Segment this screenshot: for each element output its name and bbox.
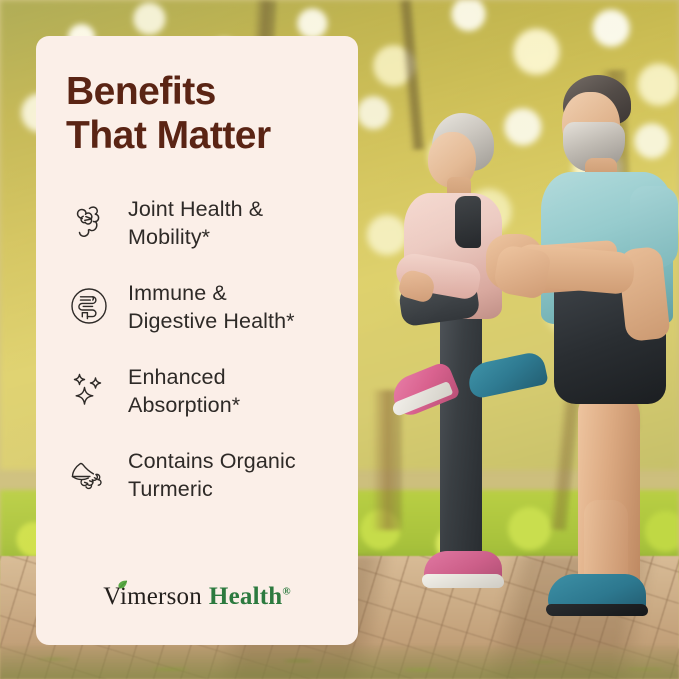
brand-logo: Vimerson Health® (36, 583, 358, 611)
registered-mark: ® (282, 586, 290, 598)
list-item-label: Contains Organic Turmeric (128, 447, 296, 504)
woman-standing-leg (440, 300, 482, 572)
benefits-card: Benefits That Matter (36, 36, 358, 645)
benefits-list: Joint Health & Mobility* Immune & Diges (66, 195, 332, 505)
joint-bone-icon (66, 195, 112, 247)
list-item-label: Enhanced Absorption* (128, 363, 240, 420)
woman-standing-shoe-sole (422, 574, 504, 588)
list-item: Contains Organic Turmeric (66, 447, 332, 505)
list-item: Joint Health & Mobility* (66, 195, 332, 253)
logo-wordmark-primary: Vimerson (103, 583, 202, 611)
list-item-label: Joint Health & Mobility* (128, 195, 263, 252)
list-item: Immune & Digestive Health* (66, 279, 332, 337)
logo-secondary-text: Health (209, 583, 282, 610)
grass-strip (0, 646, 679, 679)
list-item-label: Immune & Digestive Health* (128, 279, 295, 336)
leaf-icon (117, 580, 128, 591)
sparkles-icon (66, 363, 112, 415)
turmeric-root-icon (66, 447, 112, 499)
logo-wordmark-secondary: Health® (209, 583, 291, 611)
woman-jacket-collar (455, 196, 481, 248)
list-item: Enhanced Absorption* (66, 363, 332, 421)
digestive-tract-icon (66, 279, 112, 331)
promo-image: Benefits That Matter (0, 0, 679, 679)
man-standing-shoe-sole (546, 604, 648, 616)
page-title: Benefits That Matter (66, 70, 332, 159)
